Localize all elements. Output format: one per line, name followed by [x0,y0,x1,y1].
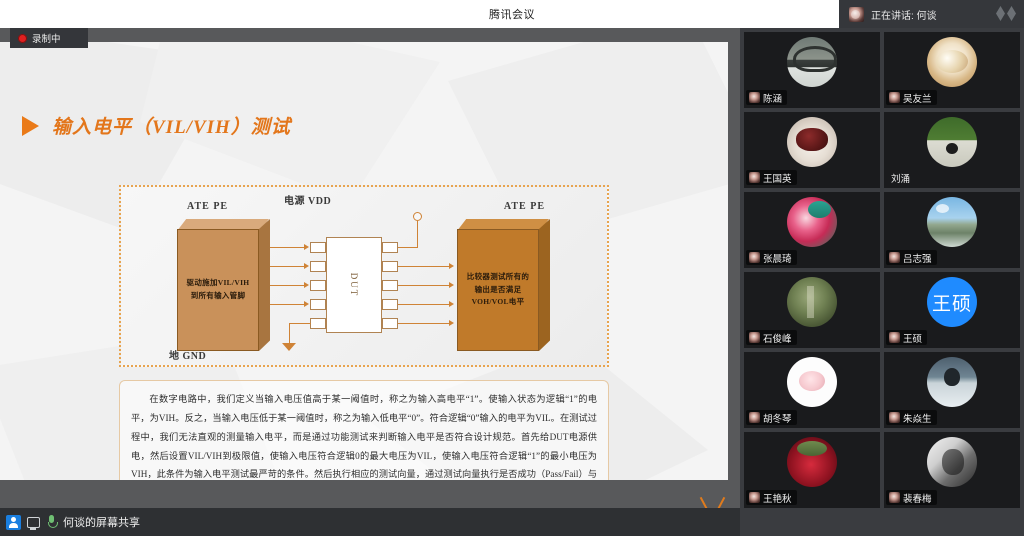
ate-pe-driver-text: 驱动施加VIL/VIH 到所有输入管脚 [187,277,250,303]
box-side-face [259,219,270,351]
box-front-face: 比较器测试所有的 输出是否满足 VOH/VOL电平 [457,229,539,351]
avatar-initials: 王硕 [932,289,972,316]
output-arrow-icon [449,301,454,307]
output-arrow-icon [449,263,454,269]
slide-title-text: 输入电平（VIL/VIH）测试 [52,112,291,139]
input-wire [270,285,305,286]
recording-badge: 录制中 [10,28,88,48]
dut-pin-right [382,261,398,272]
dut-pin-right [382,242,398,253]
participant-name-chip: 王艳秋 [746,490,797,505]
participant-avatar [787,117,837,167]
participant-avatar [927,37,977,87]
participant-tile[interactable]: 裴春梅 [884,432,1020,508]
participant-tile[interactable]: 张晨琦 [744,192,880,268]
slide-text-box: 在数字电路中，我们定义当输入电压值高于某一阈值时，称之为输入高电平“1”。使输入… [119,380,609,480]
input-arrow-icon [304,244,309,250]
record-dot-icon [18,34,27,43]
participant-tile[interactable]: 王硕王硕 [884,272,1020,348]
mic-status-icon [889,412,900,423]
participant-tile[interactable]: 朱焱生 [884,352,1020,428]
box-side-face [539,219,550,351]
vdd-terminal-icon [413,212,422,221]
active-speaker-label: 正在讲话: 何谈 [871,7,937,22]
participant-tile[interactable]: 陈涵 [744,32,880,108]
mic-status-icon [749,92,760,103]
participant-name: 吴友兰 [903,91,932,105]
input-wire [270,266,305,267]
dut-pin-right [382,299,398,310]
participant-avatar [787,357,837,407]
ground-symbol-icon [282,343,296,351]
presentation-slide: 输入电平（VIL/VIH）测试 ATE PE ATE PE 电源 VDD 地 G… [0,42,728,480]
comparator-text-line3: VOH/VOL电平 [467,296,529,309]
participant-name-chip: 张晨琦 [746,250,797,265]
person-icon [6,515,21,530]
participant-avatar [927,197,977,247]
share-owner-tag: 何谈的屏幕共享 [0,508,150,536]
dut-chip: DUT [326,237,382,333]
participant-tile[interactable]: 吕志强 [884,192,1020,268]
participant-tile[interactable]: 石俊峰 [744,272,880,348]
participant-name: 王国英 [763,171,792,185]
participant-name-chip: 刘涌 [886,170,915,185]
participant-name: 陈涵 [763,91,782,105]
driver-text-line2: 到所有输入管脚 [187,290,250,303]
active-speaker-chip: 正在讲话: 何谈 [839,0,1024,28]
network-quality-icon [996,6,1016,21]
dut-pin-left [310,242,326,253]
participant-tile[interactable]: 刘涌 [884,112,1020,188]
input-wire [270,247,305,248]
output-wire [398,323,450,324]
participant-name: 王硕 [903,331,922,345]
slide-paragraph: 在数字电路中，我们定义当输入电压值高于某一阈值时，称之为输入高电平“1”。使输入… [131,390,597,480]
participant-name: 石俊峰 [763,331,792,345]
vdd-wire [417,221,418,248]
output-arrow-icon [449,320,454,326]
participant-name: 王艳秋 [763,491,792,505]
participant-avatar [927,357,977,407]
participant-tile[interactable]: 王艳秋 [744,432,880,508]
recording-label: 录制中 [32,31,61,45]
dut-pin-left [310,299,326,310]
participant-name: 张晨琦 [763,251,792,265]
share-owner-label: 何谈的屏幕共享 [63,514,140,530]
active-speaker-avatar [849,7,864,22]
dut-pin-right [382,280,398,291]
mic-status-icon [749,492,760,503]
dut-pin-right [382,318,398,329]
input-arrow-icon [304,301,309,307]
screen-share-icon[interactable] [27,517,40,528]
ate-pe-comparator-text: 比较器测试所有的 输出是否满足 VOH/VOL电平 [467,271,529,309]
share-status-bar: 何谈的屏幕共享 [0,508,740,536]
participant-tile[interactable]: 吴友兰 [884,32,1020,108]
participant-name-chip: 王国英 [746,170,797,185]
participant-avatar [787,197,837,247]
participant-name-chip: 朱焱生 [886,410,937,425]
participant-name-chip: 裴春梅 [886,490,937,505]
dut-pin-left [310,318,326,329]
mic-status-icon [889,252,900,263]
dut-pin-left [310,261,326,272]
output-arrow-icon [449,282,454,288]
slide-title: 输入电平（VIL/VIH）测试 [22,112,291,139]
participant-tile[interactable]: 胡冬琴 [744,352,880,428]
participant-name: 刘涌 [891,171,910,185]
driver-text-line1: 驱动施加VIL/VIH [187,277,250,290]
comparator-text-line2: 输出是否满足 [467,284,529,297]
participant-name: 裴春梅 [903,491,932,505]
diagram-label-vdd: 电源 VDD [284,192,331,207]
diagram-label-ate-right: ATE PE [504,201,545,212]
participant-name-chip: 石俊峰 [746,330,797,345]
shared-screen-region: 输入电平（VIL/VIH）测试 ATE PE ATE PE 电源 VDD 地 G… [0,28,740,508]
mic-status-icon [749,332,760,343]
participant-avatar [927,117,977,167]
dut-pin-left [310,280,326,291]
mic-status-icon [889,492,900,503]
participant-tile[interactable]: 王国英 [744,112,880,188]
participant-name-chip: 吕志强 [886,250,937,265]
participant-avatar [787,437,837,487]
output-wire [398,266,450,267]
participant-name: 朱焱生 [903,411,932,425]
diagram-label-ate-left: ATE PE [187,201,228,212]
participant-avatar [787,277,837,327]
participant-name-chip: 王硕 [886,330,927,345]
participant-grid: 陈涵吴友兰王国英刘涌张晨琦吕志强石俊峰王硕王硕胡冬琴朱焱生王艳秋裴春梅 [744,32,1020,508]
participant-name: 胡冬琴 [763,411,792,425]
mic-status-icon [889,92,900,103]
meeting-window: 腾讯会议 正在讲话: 何谈 输入电平（VIL/VIH）测试 ATE PE ATE… [0,0,1024,536]
participant-panel[interactable]: 陈涵吴友兰王国英刘涌张晨琦吕志强石俊峰王硕王硕胡冬琴朱焱生王艳秋裴春梅 [740,28,1024,536]
comparator-text-line1: 比较器测试所有的 [467,271,529,284]
input-wire [270,304,305,305]
mic-status-icon [749,412,760,423]
dut-label: DUT [349,273,359,298]
gnd-wire [289,323,311,324]
participant-avatar: 王硕 [927,277,977,327]
microphone-icon[interactable] [46,515,57,529]
test-setup-diagram: ATE PE ATE PE 电源 VDD 地 GND 驱动施加VIL/VIH 到… [119,185,609,367]
output-wire [398,285,450,286]
participant-name-chip: 胡冬琴 [746,410,797,425]
vdd-wire [398,247,418,248]
participant-name-chip: 吴友兰 [886,90,937,105]
input-arrow-icon [304,282,309,288]
participant-avatar [787,37,837,87]
mic-status-icon [749,252,760,263]
box-front-face: 驱动施加VIL/VIH 到所有输入管脚 [177,229,259,351]
mic-status-icon [749,172,760,183]
output-wire [398,304,450,305]
gnd-wire [289,323,290,344]
participant-avatar [927,437,977,487]
window-title: 腾讯会议 [489,6,535,22]
triangle-bullet-icon [22,116,39,136]
input-arrow-icon [304,263,309,269]
mic-status-icon [889,332,900,343]
participant-name: 吕志强 [903,251,932,265]
participant-name-chip: 陈涵 [746,90,787,105]
